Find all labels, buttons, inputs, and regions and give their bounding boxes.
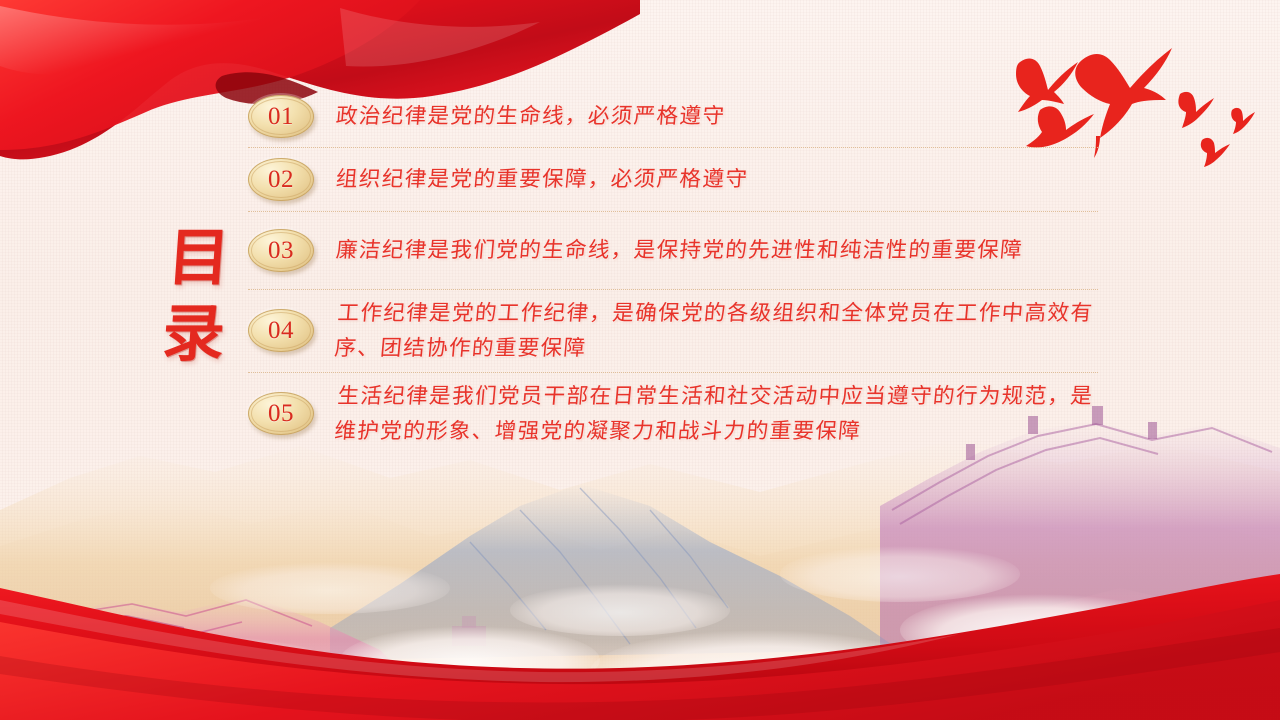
title-char-lu: 录 — [137, 298, 252, 374]
toc-number-badge-01[interactable]: 01 — [248, 95, 314, 138]
table-of-contents: 01 政治纪律是党的生命线，必须严格遵守 02 组织纪律是党的重要保障，必须严格… — [248, 86, 1098, 455]
toc-text-02: 组织纪律是党的重要保障，必须严格遵守 — [334, 162, 749, 197]
red-ribbon-bottom — [0, 560, 1280, 720]
toc-number-badge-04[interactable]: 04 — [248, 309, 314, 352]
toc-number-label: 01 — [268, 104, 294, 129]
toc-number-label: 02 — [268, 167, 294, 192]
toc-number-badge-05[interactable]: 05 — [248, 392, 314, 435]
toc-number-badge-02[interactable]: 02 — [248, 158, 314, 201]
slide-canvas: 目 录 01 政治纪律是党的生命线，必须严格遵守 02 组织纪律是党的重要保障，… — [0, 0, 1280, 720]
toc-text-01: 政治纪律是党的生命线，必须严格遵守 — [334, 99, 726, 134]
toc-number-badge-03[interactable]: 03 — [248, 229, 314, 272]
toc-item-01[interactable]: 01 政治纪律是党的生命线，必须严格遵守 — [248, 86, 1098, 148]
toc-number-label: 04 — [268, 318, 294, 343]
toc-text-04: 工作纪律是党的工作纪律，是确保党的各级组织和全体党员在工作中高效有序、团结协作的… — [333, 296, 1101, 366]
toc-item-05[interactable]: 05 生活纪律是我们党员干部在日常生活和社交活动中应当遵守的行为规范，是维护党的… — [248, 373, 1098, 455]
toc-text-03: 廉洁纪律是我们党的生命线，是保持党的先进性和纯洁性的重要保障 — [334, 233, 1024, 268]
page-title: 目 录 — [137, 222, 258, 373]
toc-number-label: 05 — [268, 401, 294, 426]
toc-text-05: 生活纪律是我们党员干部在日常生活和社交活动中应当遵守的行为规范，是维护党的形象、… — [333, 379, 1101, 449]
toc-number-label: 03 — [268, 238, 294, 263]
title-char-mu: 目 — [142, 222, 257, 298]
toc-item-04[interactable]: 04 工作纪律是党的工作纪律，是确保党的各级组织和全体党员在工作中高效有序、团结… — [248, 290, 1098, 373]
toc-item-03[interactable]: 03 廉洁纪律是我们党的生命线，是保持党的先进性和纯洁性的重要保障 — [248, 212, 1098, 290]
toc-item-02[interactable]: 02 组织纪律是党的重要保障，必须严格遵守 — [248, 148, 1098, 212]
